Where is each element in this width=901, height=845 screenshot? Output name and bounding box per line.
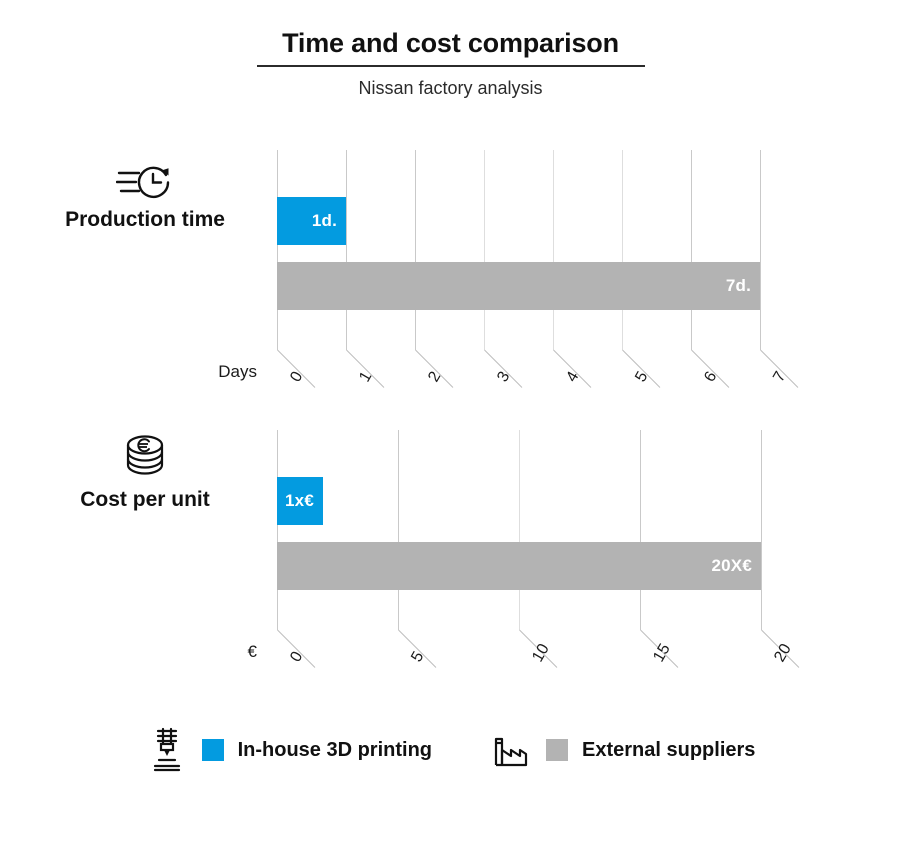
gridline-6 [691, 150, 692, 350]
legend-swatch-external [546, 739, 568, 761]
tick-label-5: 5 [408, 649, 428, 666]
row-label-cost-per-unit: Cost per unit [20, 430, 270, 512]
row-label-production-time: Production time [20, 150, 270, 232]
gridline-10 [519, 430, 520, 630]
clock-speed-icon [20, 150, 270, 202]
x-axis-euro: € 0 5 10 15 20 [277, 630, 777, 690]
axis-name-days: Days [167, 362, 257, 382]
gridline-0 [277, 430, 278, 630]
tick-label-0: 0 [287, 369, 307, 386]
gridline-7 [760, 150, 761, 350]
axis-name-euro: € [167, 642, 257, 662]
legend-label: External suppliers [582, 739, 755, 762]
bar-value-label: 1x€ [285, 491, 323, 511]
tick-label-4: 4 [563, 369, 583, 386]
row-label-text: Cost per unit [20, 488, 270, 512]
3d-printer-icon [146, 726, 188, 774]
bar-external-production-time: 7d. [277, 262, 760, 310]
chart-header: Time and cost comparison Nissan factory … [0, 26, 901, 100]
plot-area-production-time: 1d. 7d. Days 0 1 2 3 4 5 6 7 [277, 150, 777, 350]
bar-value-label: 20X€ [711, 556, 761, 576]
tick-label-1: 1 [356, 369, 376, 386]
gridline-2 [415, 150, 416, 350]
gridline-4 [553, 150, 554, 350]
tick-label-0: 0 [287, 649, 307, 666]
tick-label-6: 6 [701, 369, 721, 386]
bar-in-house-production-time: 1d. [277, 197, 346, 245]
title-divider [257, 65, 645, 67]
legend-item-external-suppliers[interactable]: External suppliers [490, 726, 755, 774]
bar-in-house-cost: 1x€ [277, 477, 323, 525]
legend-item-in-house-3d-printing[interactable]: In-house 3D printing [146, 726, 432, 774]
bar-external-cost: 20X€ [277, 542, 761, 590]
legend-label: In-house 3D printing [238, 739, 432, 762]
row-label-text: Production time [20, 208, 270, 232]
factory-icon [490, 726, 532, 774]
x-axis-days: Days 0 1 2 3 4 5 6 7 [277, 350, 777, 410]
page-subtitle: Nissan factory analysis [0, 76, 901, 100]
bar-value-label: 1d. [312, 211, 346, 231]
gridline-20 [761, 430, 762, 630]
gridline-5 [398, 430, 399, 630]
plot-area-cost-per-unit: 1x€ 20X€ € 0 5 10 15 20 [277, 430, 777, 630]
legend-swatch-in-house [202, 739, 224, 761]
tick-label-7: 7 [770, 369, 790, 386]
gridline-1 [346, 150, 347, 350]
tick-label-2: 2 [425, 369, 445, 386]
tick-label-5: 5 [632, 369, 652, 386]
tick-label-3: 3 [494, 369, 514, 386]
gridline-5 [622, 150, 623, 350]
coin-stack-euro-icon [20, 430, 270, 482]
gridline-0 [277, 150, 278, 350]
gridline-3 [484, 150, 485, 350]
page-title: Time and cost comparison [282, 26, 619, 60]
gridline-15 [640, 430, 641, 630]
bar-value-label: 7d. [726, 276, 760, 296]
chart-legend: In-house 3D printing External suppliers [0, 726, 901, 774]
